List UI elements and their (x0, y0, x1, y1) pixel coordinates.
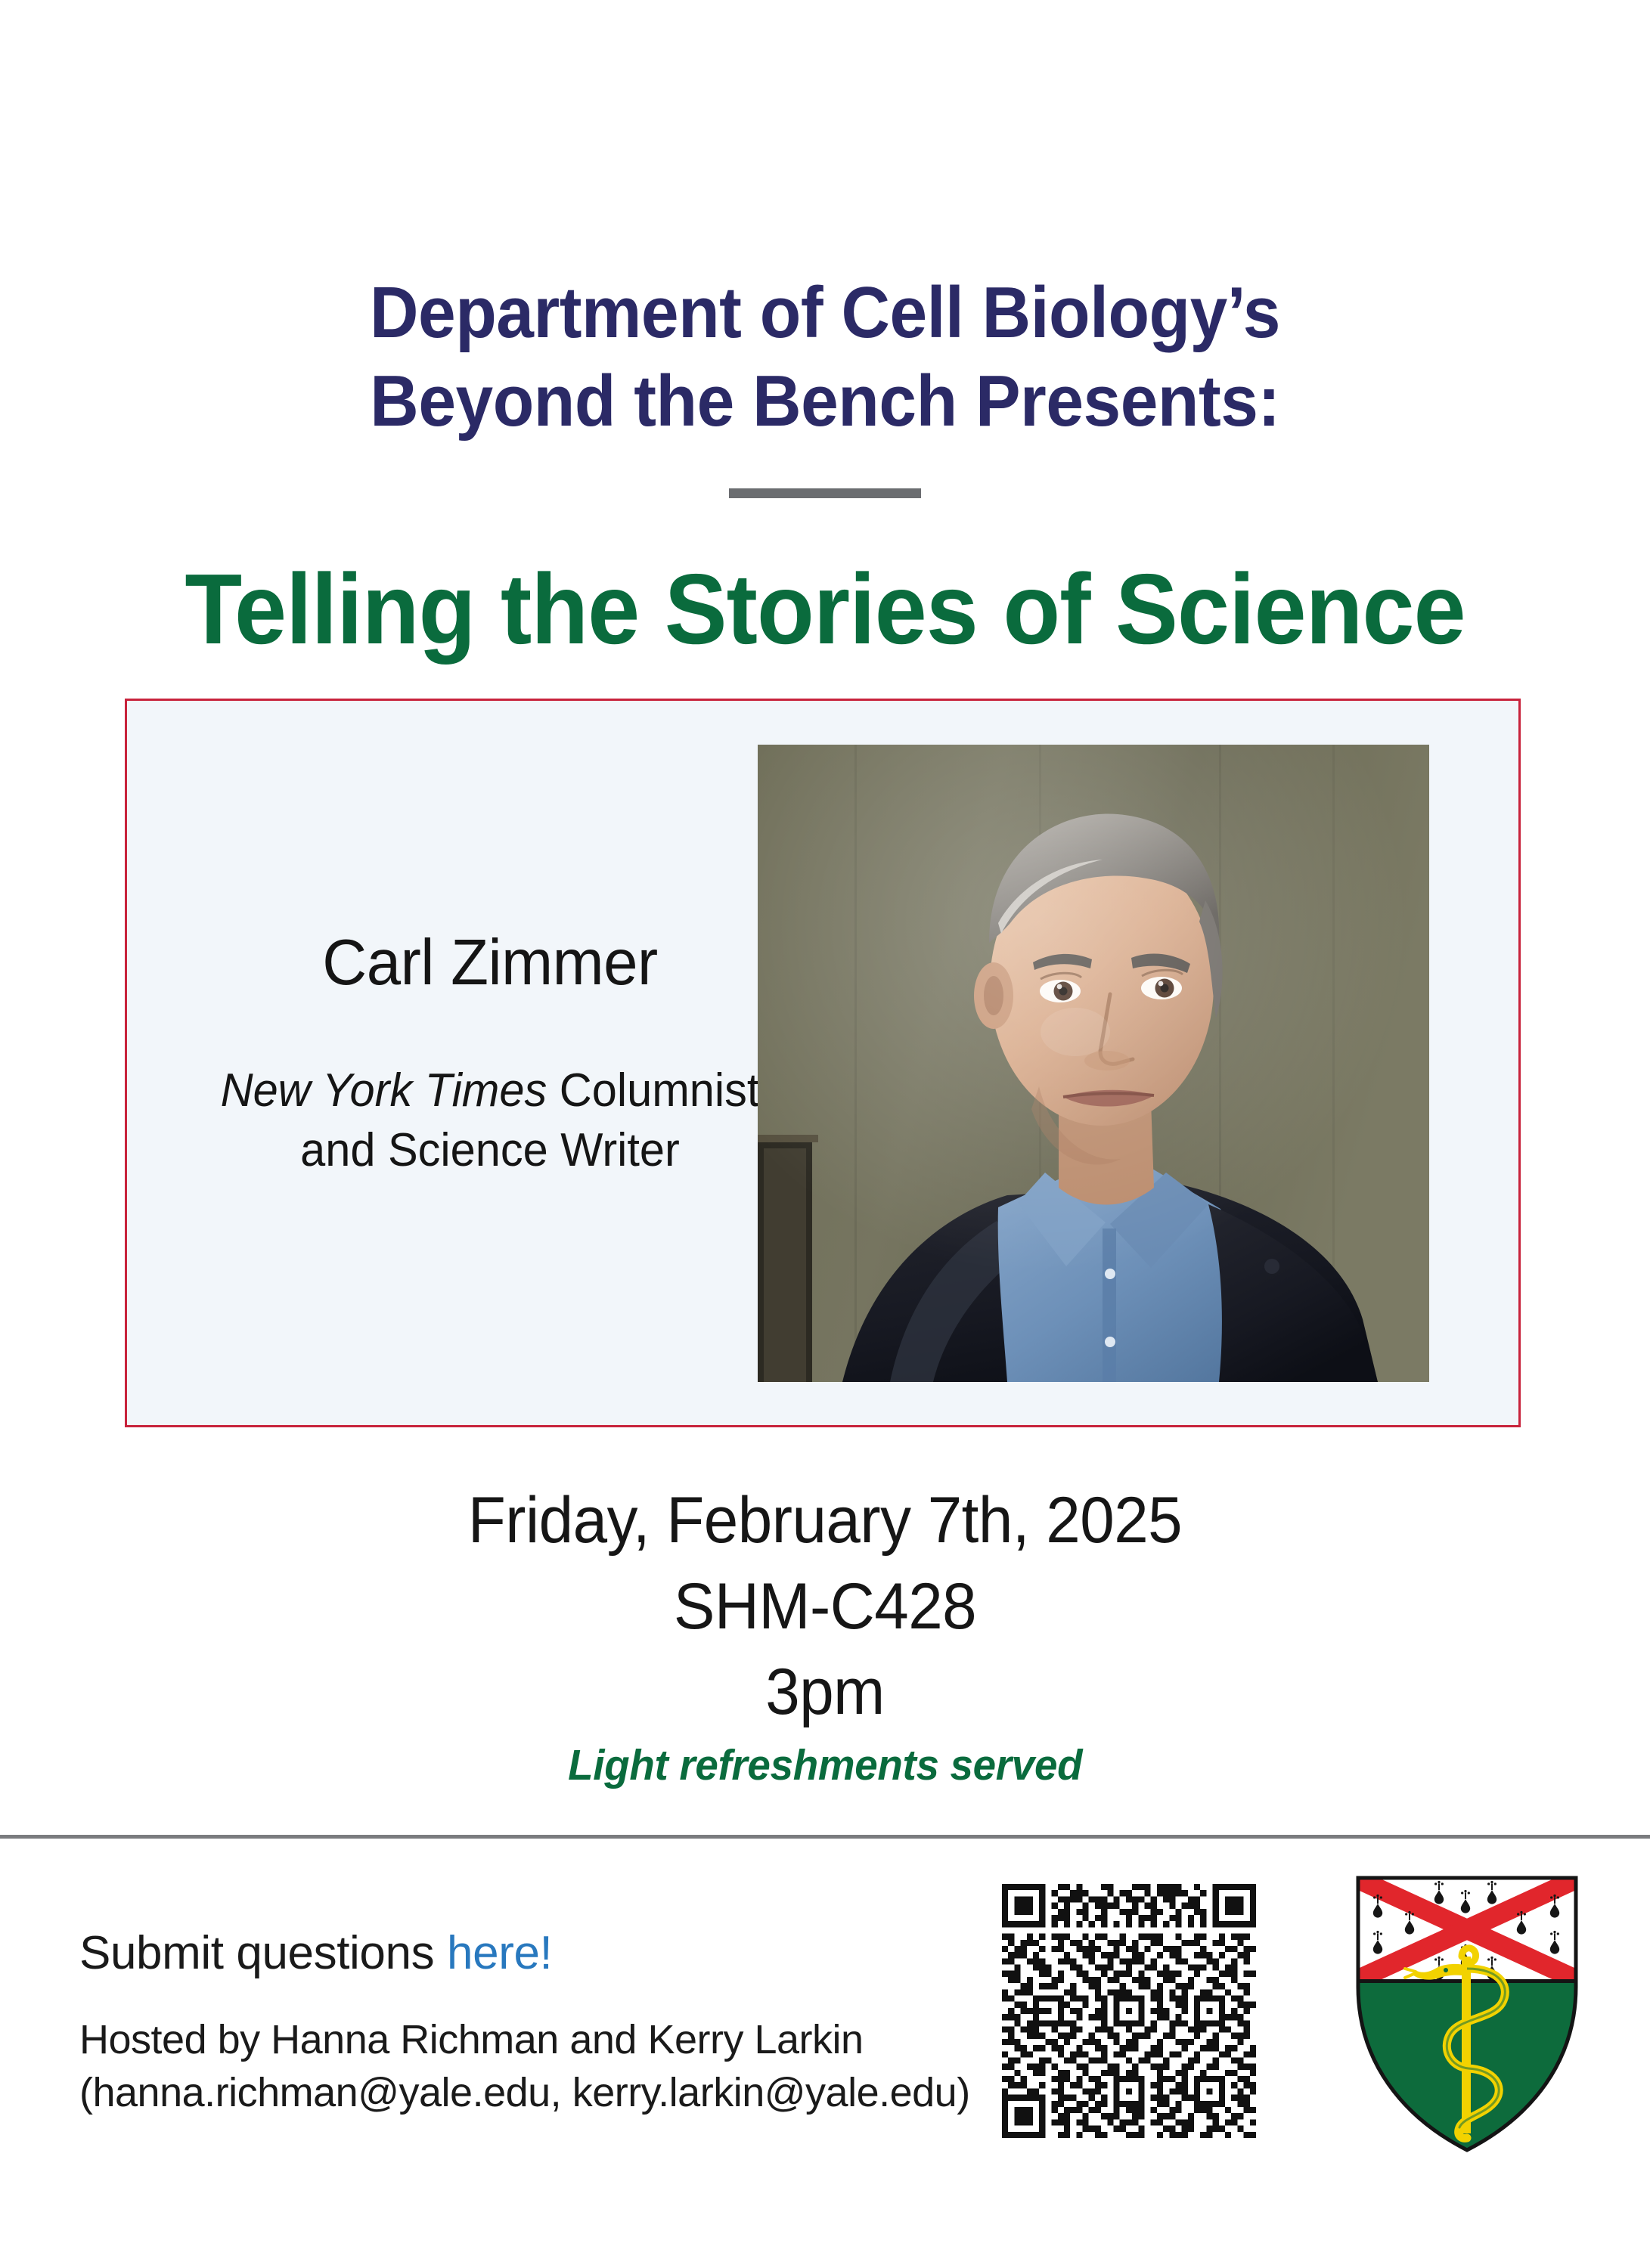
refreshments-text: Light refreshments served (568, 1740, 1082, 1790)
event-room: SHM-C428 (42, 1564, 1609, 1650)
speaker-role-publication: New York Times (221, 1064, 547, 1117)
speaker-info: Carl Zimmer New York Times Columnist and… (172, 928, 808, 1180)
hosted-by-emails: (hanna.richman@yale.edu, kerry.larkin@ya… (79, 2070, 970, 2115)
event-flyer: Department of Cell Biology’s Beyond the … (0, 0, 1650, 2268)
portrait-illustration (758, 745, 1429, 1382)
event-time: 3pm (42, 1650, 1609, 1736)
speaker-role: New York Times Columnist and Science Wri… (185, 1061, 795, 1181)
speaker-role-title: Columnist (547, 1064, 759, 1117)
speaker-name: Carl Zimmer (185, 928, 795, 999)
department-line-1: Department of Cell Biology’s (57, 268, 1592, 357)
qr-code-image (1002, 1884, 1256, 2138)
flyer-header: Department of Cell Biology’s Beyond the … (0, 268, 1650, 445)
submit-questions-label: Submit questions (79, 1927, 447, 1979)
shield-illustration (1354, 1873, 1580, 2155)
qr-code[interactable] (1002, 1884, 1256, 2138)
speaker-portrait-photo (758, 745, 1429, 1382)
refreshments-note: Light refreshments served (0, 1740, 1650, 1790)
yale-school-of-medicine-shield-icon (1354, 1873, 1580, 2155)
hosted-by-line: Hosted by Hanna Richman and Kerry Larkin… (79, 2013, 972, 2119)
event-date: Friday, February 7th, 2025 (42, 1478, 1609, 1564)
speaker-role-line2: and Science Writer (300, 1124, 680, 1176)
talk-title: Telling the Stories of Science (49, 554, 1600, 664)
event-details: Friday, February 7th, 2025 SHM-C428 3pm (0, 1478, 1650, 1736)
footer-contact-block: Submit questions here! Hosted by Hanna R… (79, 1926, 972, 2120)
header-divider (729, 488, 921, 498)
footer-divider (0, 1835, 1650, 1839)
submit-questions-link[interactable]: here! (447, 1927, 552, 1979)
submit-questions-line: Submit questions here! (79, 1926, 972, 1980)
department-line-2: Beyond the Bench Presents: (57, 357, 1592, 445)
hosted-by-names: Hosted by Hanna Richman and Kerry Larkin (79, 2017, 864, 2062)
